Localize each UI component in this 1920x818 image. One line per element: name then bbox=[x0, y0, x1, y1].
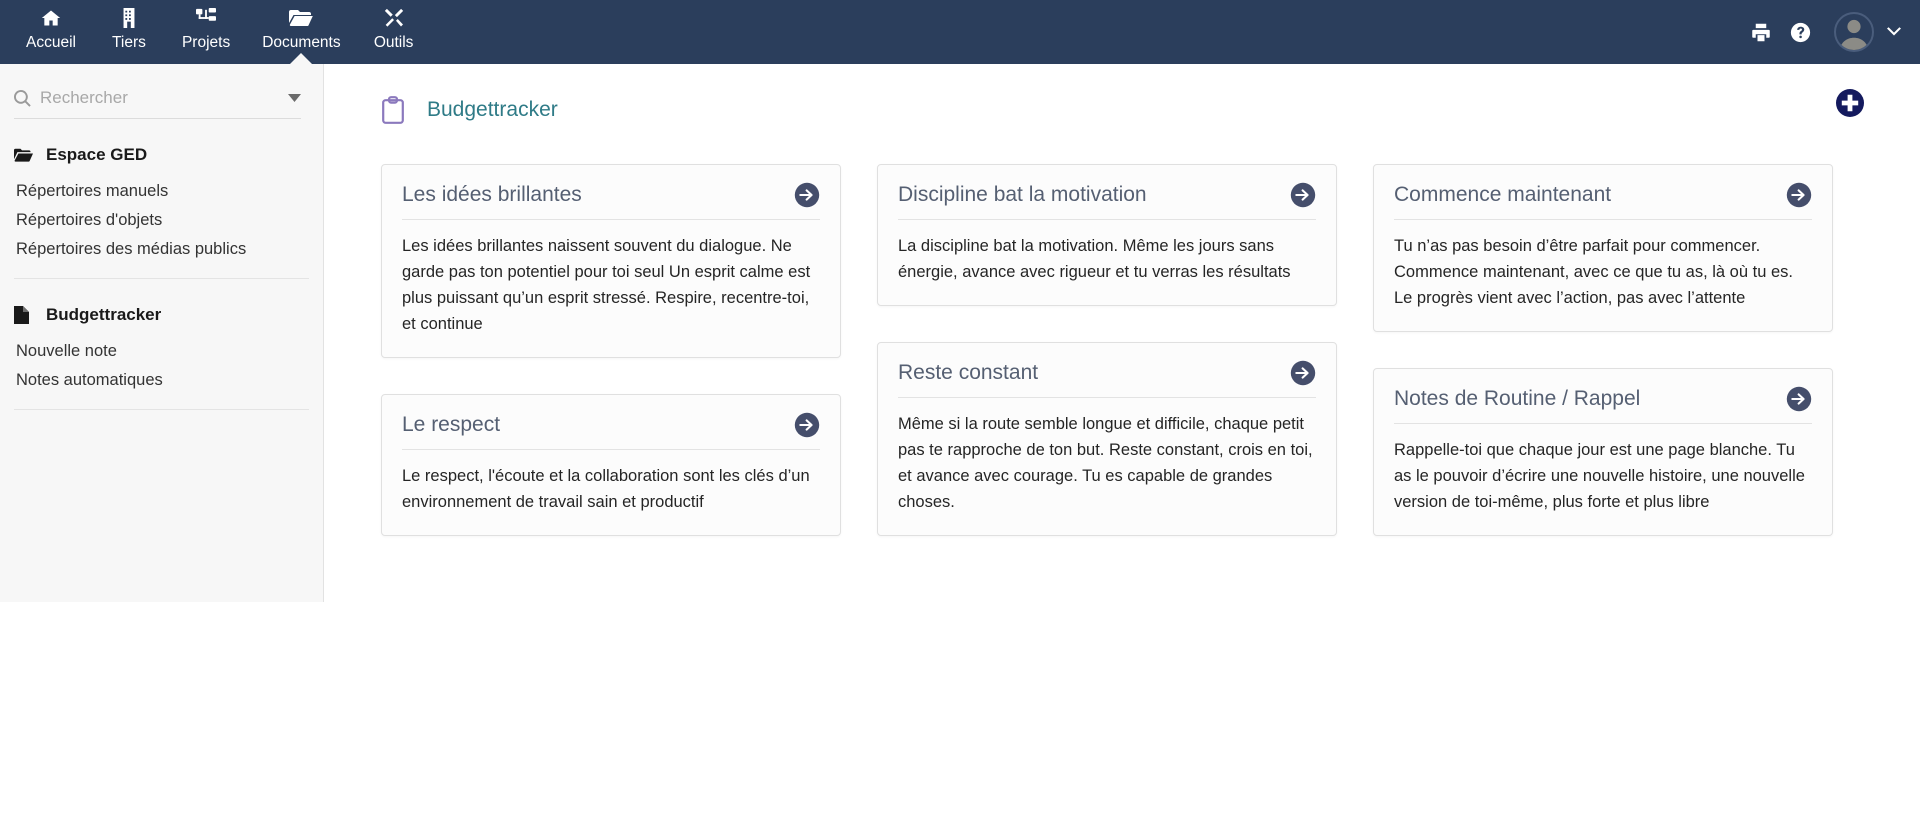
avatar[interactable] bbox=[1834, 12, 1874, 52]
sidebar-item-repertoires-manuels[interactable]: Répertoires manuels bbox=[0, 177, 323, 206]
nav-tab-label: Accueil bbox=[26, 34, 76, 52]
clipboard-icon bbox=[381, 96, 405, 124]
search-icon bbox=[14, 90, 40, 107]
file-icon bbox=[14, 306, 34, 324]
home-icon bbox=[40, 7, 62, 29]
nav-tab-outils[interactable]: Outils bbox=[357, 0, 431, 64]
sidebar-divider bbox=[14, 278, 309, 279]
arrow-circle-right-icon[interactable] bbox=[1786, 182, 1812, 208]
arrow-circle-right-icon[interactable] bbox=[794, 182, 820, 208]
note-card-header: Reste constant bbox=[898, 359, 1316, 398]
folder-icon bbox=[14, 148, 34, 163]
sidebar-section-header[interactable]: Espace GED bbox=[0, 145, 323, 165]
sidebar-section-header[interactable]: Budgettracker bbox=[0, 305, 323, 325]
nav-tab-label: Documents bbox=[262, 34, 340, 52]
add-note-button[interactable] bbox=[1833, 86, 1867, 120]
note-card[interactable]: Discipline bat la motivation La discipli… bbox=[877, 164, 1337, 306]
nav-tab-projets[interactable]: Projets bbox=[166, 0, 246, 64]
nav-tab-label: Projets bbox=[182, 34, 230, 52]
note-card-header: Commence maintenant bbox=[1394, 181, 1812, 220]
chevron-down-icon[interactable] bbox=[1886, 27, 1902, 37]
sidebar-item-repertoires-medias-publics[interactable]: Répertoires des médias publics bbox=[0, 235, 323, 264]
sidebar-divider bbox=[14, 409, 309, 410]
note-card-body: Le respect, l'écoute et la collaboration… bbox=[402, 450, 820, 515]
tools-icon bbox=[383, 7, 405, 29]
note-card-header: Le respect bbox=[402, 411, 820, 450]
note-card-title: Le respect bbox=[402, 411, 512, 439]
nav-tab-tiers[interactable]: Tiers bbox=[92, 0, 166, 64]
building-icon bbox=[121, 7, 137, 29]
arrow-circle-right-icon[interactable] bbox=[1786, 386, 1812, 412]
search-input[interactable] bbox=[40, 86, 282, 110]
nav-tab-accueil[interactable]: Accueil bbox=[10, 0, 92, 64]
printer-icon[interactable] bbox=[1741, 22, 1781, 43]
note-card[interactable]: Les idées brillantes Les idées brillante… bbox=[381, 164, 841, 358]
note-card-title: Discipline bat la motivation bbox=[898, 181, 1159, 209]
note-card-body: Même si la route semble longue et diffic… bbox=[898, 398, 1316, 515]
nav-tab-documents[interactable]: Documents bbox=[246, 0, 356, 64]
note-card-title: Commence maintenant bbox=[1394, 181, 1623, 209]
nav-tab-label: Outils bbox=[374, 34, 414, 52]
note-card-body: Tu n’as pas besoin d’être parfait pour c… bbox=[1394, 220, 1812, 311]
note-card[interactable]: Notes de Routine / Rappel Rappelle-toi q… bbox=[1373, 368, 1833, 536]
sidebar-section-title: Budgettracker bbox=[46, 305, 161, 325]
sitemap-icon bbox=[195, 7, 217, 29]
note-card-header: Notes de Routine / Rappel bbox=[1394, 385, 1812, 424]
arrow-circle-right-icon[interactable] bbox=[1290, 360, 1316, 386]
sidebar: Espace GED Répertoires manuels Répertoir… bbox=[0, 64, 324, 602]
page-title: Budgettracker bbox=[427, 98, 558, 122]
main-content: Budgettracker Les idées brillantes bbox=[325, 64, 1920, 818]
arrow-circle-right-icon[interactable] bbox=[794, 412, 820, 438]
note-card-title: Les idées brillantes bbox=[402, 181, 594, 209]
note-card[interactable]: Commence maintenant Tu n’as pas besoin d… bbox=[1373, 164, 1833, 332]
nav-tab-label: Tiers bbox=[112, 34, 146, 52]
folder-open-icon bbox=[289, 7, 313, 29]
top-navigation-bar: Accueil Tiers Projets bbox=[0, 0, 1920, 64]
arrow-circle-right-icon[interactable] bbox=[1290, 182, 1316, 208]
note-card-body: Rappelle-toi que chaque jour est une pag… bbox=[1394, 424, 1812, 515]
search-box[interactable] bbox=[14, 86, 301, 119]
note-card-title: Notes de Routine / Rappel bbox=[1394, 385, 1652, 413]
sidebar-section-title: Espace GED bbox=[46, 145, 147, 165]
sidebar-section-espace-ged: Espace GED Répertoires manuels Répertoir… bbox=[0, 145, 323, 264]
note-card[interactable]: Reste constant Même si la route semble l… bbox=[877, 342, 1337, 536]
nav-tab-list: Accueil Tiers Projets bbox=[0, 0, 431, 64]
page-header: Budgettracker bbox=[325, 64, 1920, 134]
note-card-title: Reste constant bbox=[898, 359, 1050, 387]
nav-right-actions bbox=[1741, 0, 1920, 64]
notes-column-3: Commence maintenant Tu n’as pas besoin d… bbox=[1373, 164, 1833, 536]
caret-down-icon[interactable] bbox=[282, 94, 301, 102]
note-card-header: Discipline bat la motivation bbox=[898, 181, 1316, 220]
sidebar-item-repertoires-objets[interactable]: Répertoires d'objets bbox=[0, 206, 323, 235]
note-card-header: Les idées brillantes bbox=[402, 181, 820, 220]
sidebar-section-budgettracker: Budgettracker Nouvelle note Notes automa… bbox=[0, 305, 323, 395]
notes-column-2: Discipline bat la motivation La discipli… bbox=[877, 164, 1337, 536]
note-card-body: La discipline bat la motivation. Même le… bbox=[898, 220, 1316, 285]
sidebar-item-notes-automatiques[interactable]: Notes automatiques bbox=[0, 366, 323, 395]
sidebar-item-nouvelle-note[interactable]: Nouvelle note bbox=[0, 337, 323, 366]
question-circle-icon[interactable] bbox=[1781, 22, 1820, 43]
note-card-body: Les idées brillantes naissent souvent du… bbox=[402, 220, 820, 337]
note-card[interactable]: Le respect Le respect, l'écoute et la co… bbox=[381, 394, 841, 536]
notes-grid: Les idées brillantes Les idées brillante… bbox=[325, 134, 1920, 536]
notes-column-1: Les idées brillantes Les idées brillante… bbox=[381, 164, 841, 536]
